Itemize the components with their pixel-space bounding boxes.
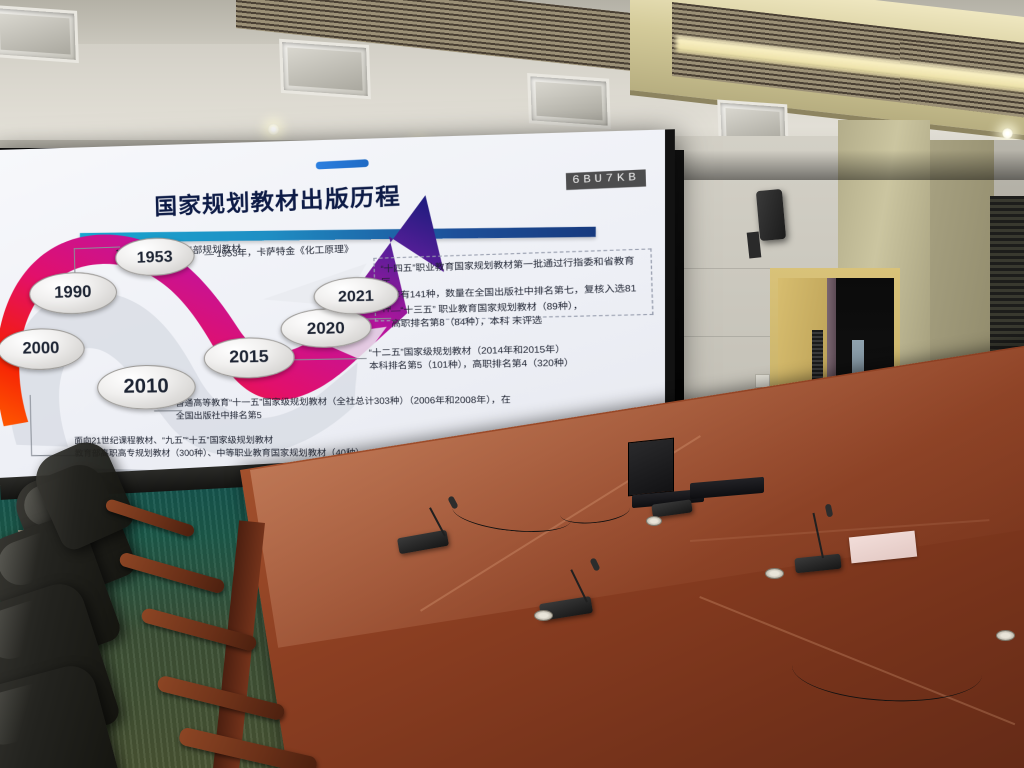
wall-speaker-icon (756, 189, 786, 241)
annotation-2015: “十二五”国家级规划教材（2014年和2015年） 本科排名第5（101种），高… (369, 343, 575, 373)
downlight-icon (268, 124, 279, 135)
annotation-2020: —“十三五” 职业教育国家规划教材（89种）， 高职排名第8（84种），本科 未… (391, 300, 584, 331)
ac-vent-icon (527, 73, 611, 129)
cable-grommet (996, 630, 1015, 641)
cable-grommet (646, 516, 662, 526)
cable-grommet (534, 610, 553, 621)
conference-room-photo: 国家规划教材出版历程 6BU7KB (0, 0, 1024, 768)
cable-grommet (765, 568, 784, 579)
annotation-2010: 普通高等教育“十一五”国家级规划教材（全社总计303种）（2006年和2008年… (175, 394, 511, 423)
ac-vent-icon (279, 39, 371, 99)
ac-vent-icon (0, 5, 79, 63)
laptop-screen (628, 438, 674, 497)
downlight-icon (1002, 128, 1013, 139)
speaker-mount (747, 231, 762, 258)
